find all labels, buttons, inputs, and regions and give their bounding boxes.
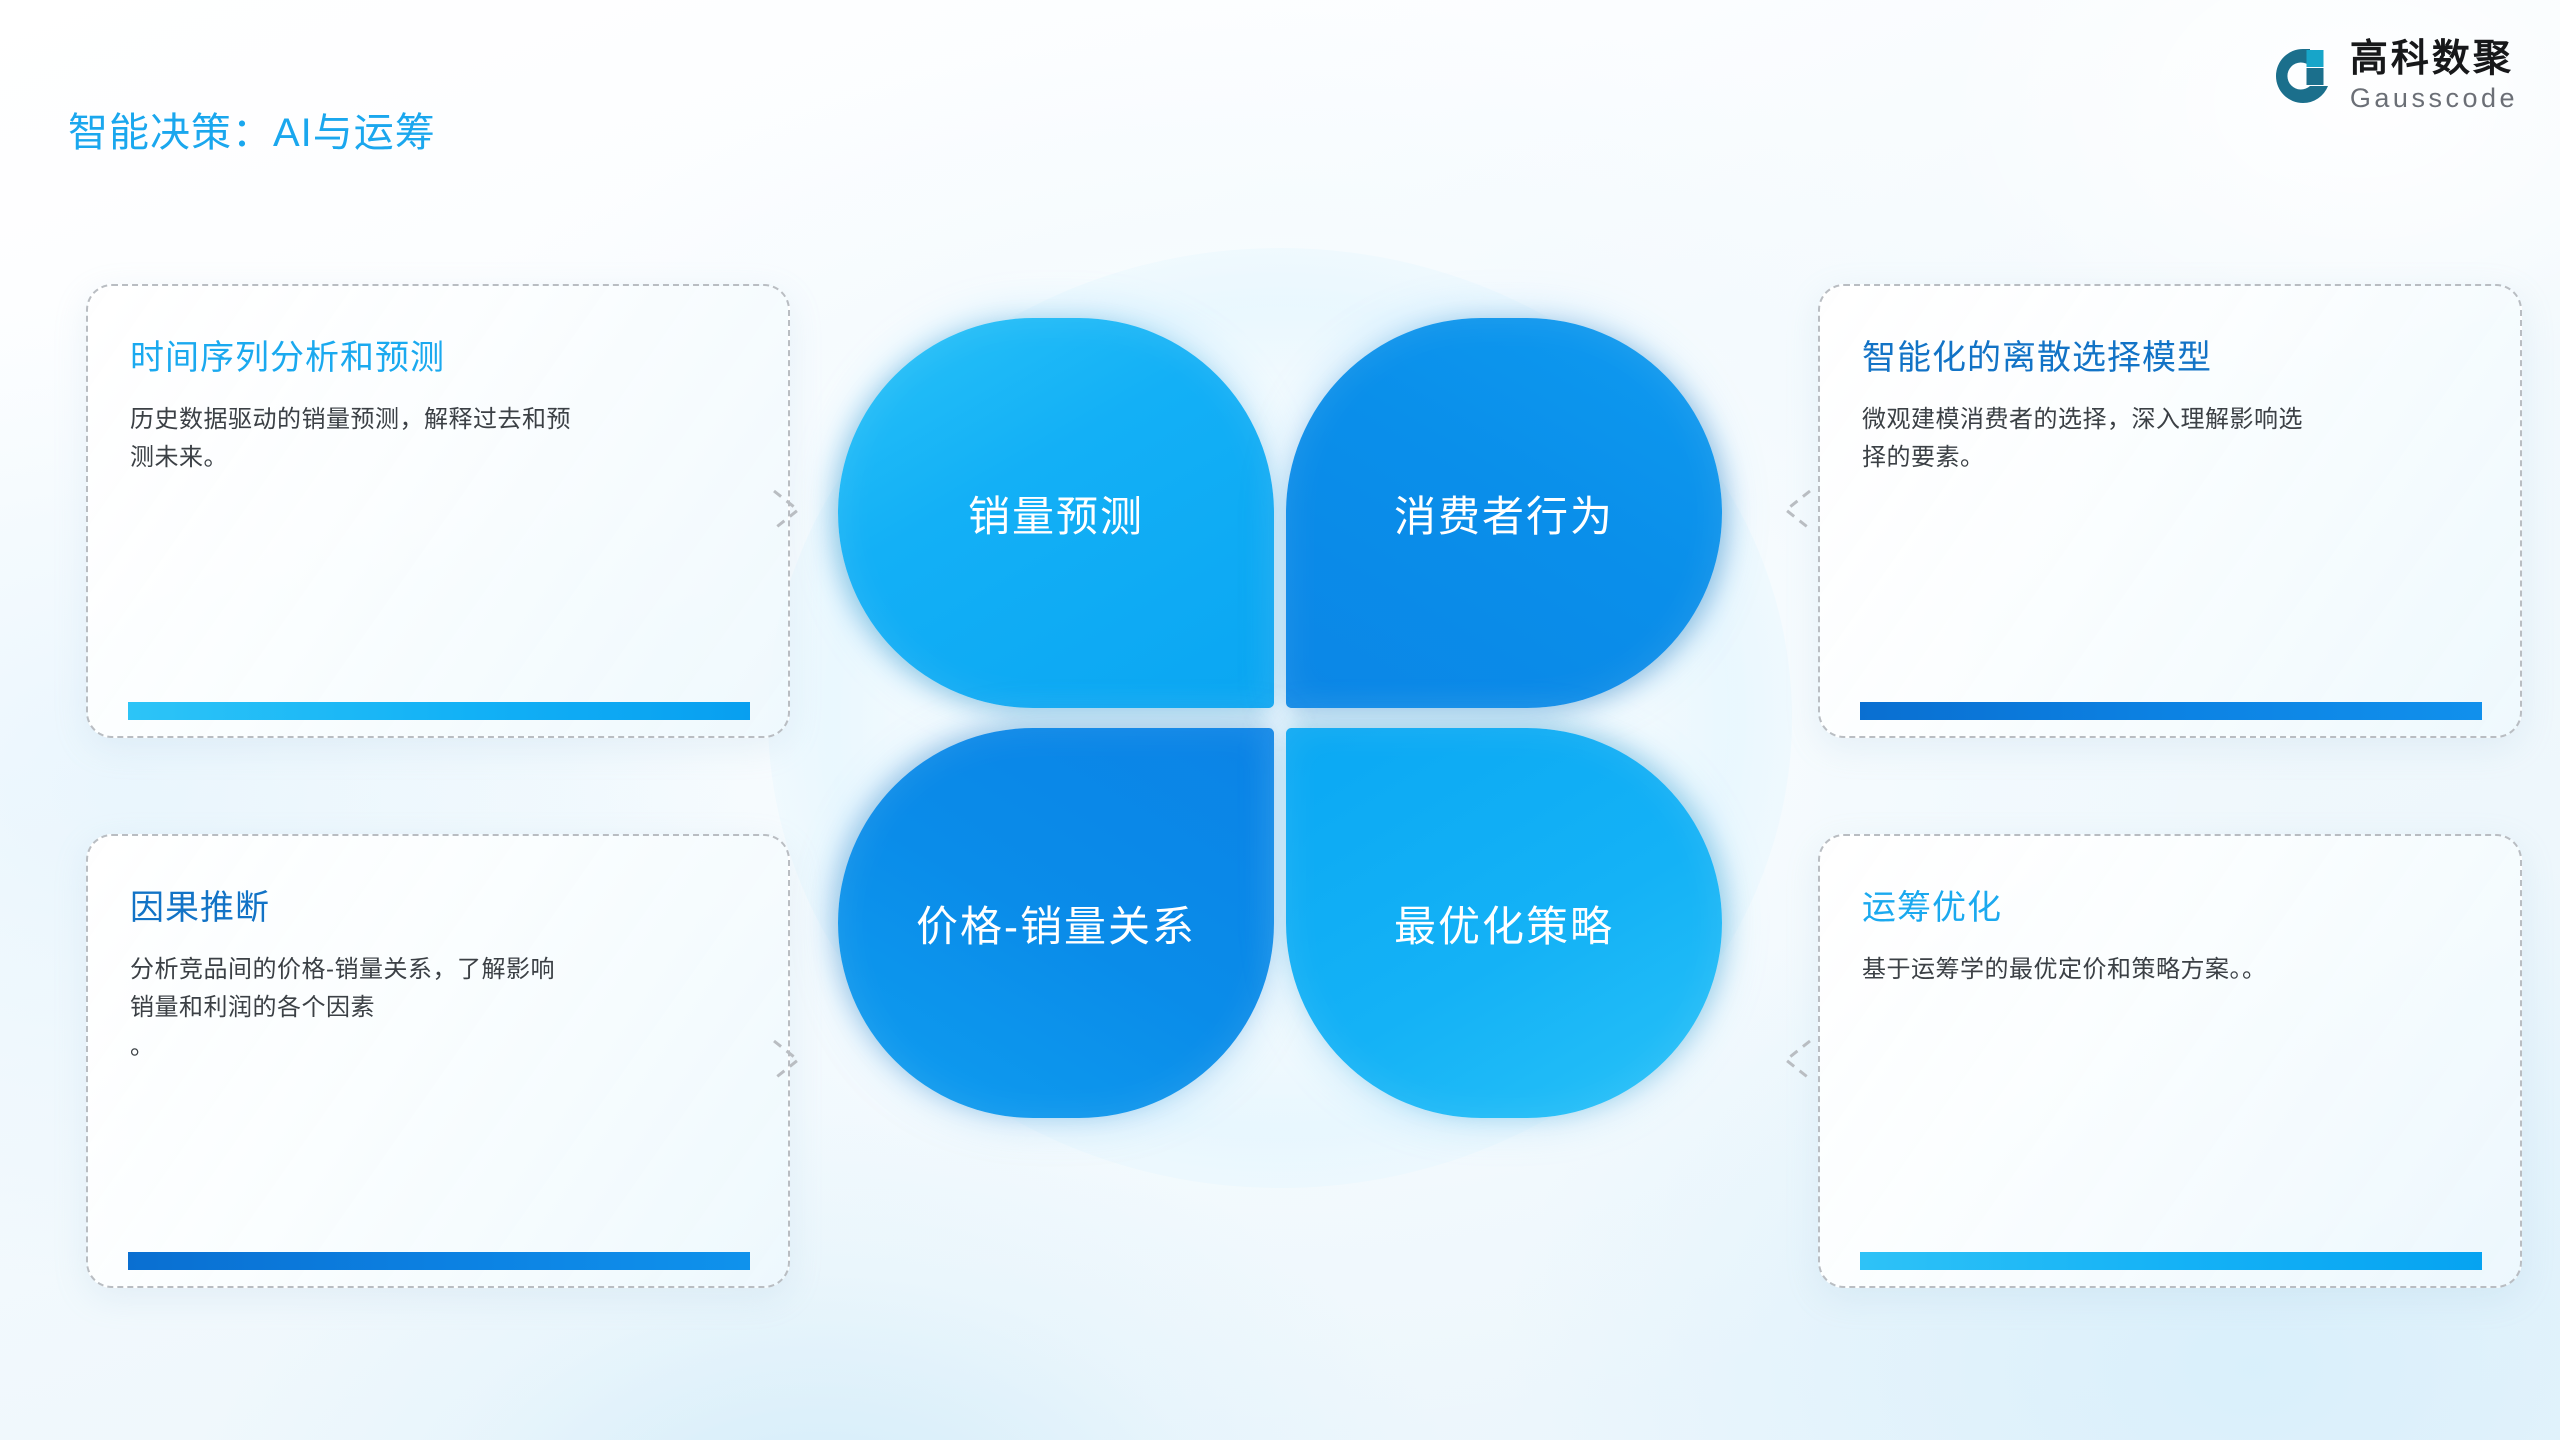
chevron-left-icon bbox=[1780, 487, 1814, 533]
brand-logo: 高科数聚 Gausscode bbox=[2272, 40, 2518, 112]
petal-label-sales-forecast: 销量预测 bbox=[968, 483, 1144, 544]
card-desc-causal-inference: 分析竞品间的价格-销量关系，了解影响 销量和利润的各个因素 。 bbox=[130, 951, 748, 1066]
logo-text-cn: 高科数聚 bbox=[2350, 40, 2518, 78]
card-title-discrete-choice: 智能化的离散选择模型 bbox=[1862, 330, 2480, 379]
logo-text-en: Gausscode bbox=[2350, 85, 2518, 112]
chevron-right-icon bbox=[770, 487, 804, 533]
page-title: 智能决策：AI与运筹 bbox=[68, 100, 436, 158]
card-title-causal-inference: 因果推断 bbox=[130, 880, 748, 929]
card-causal-inference[interactable]: 因果推断 分析竞品间的价格-销量关系，了解影响 销量和利润的各个因素 。 bbox=[86, 834, 790, 1288]
logo-wordmark: 高科数聚 Gausscode bbox=[2350, 40, 2518, 112]
card-time-series[interactable]: 时间序列分析和预测 历史数据驱动的销量预测，解释过去和预 测未来。 bbox=[86, 284, 790, 738]
gausscode-logo-mark bbox=[2272, 45, 2334, 107]
page-header: 智能决策：AI与运筹 高科数聚 Gausscode bbox=[0, 0, 2560, 165]
card-accent-bar-causal-inference bbox=[128, 1252, 750, 1270]
card-title-operations-research: 运筹优化 bbox=[1862, 880, 2480, 929]
card-accent-bar-operations-research bbox=[1860, 1252, 2482, 1270]
card-desc-discrete-choice: 微观建模消费者的选择，深入理解影响选 择的要素。 bbox=[1862, 401, 2480, 478]
card-discrete-choice[interactable]: 智能化的离散选择模型 微观建模消费者的选择，深入理解影响选 择的要素。 bbox=[1818, 284, 2522, 738]
card-body: 智能化的离散选择模型 微观建模消费者的选择，深入理解影响选 择的要素。 bbox=[1862, 330, 2480, 478]
petal-sales-forecast[interactable]: 销量预测 bbox=[838, 318, 1274, 708]
logo-mark-svg bbox=[2272, 45, 2334, 107]
card-body: 因果推断 分析竞品间的价格-销量关系，了解影响 销量和利润的各个因素 。 bbox=[130, 880, 748, 1066]
petal-label-consumer-behavior: 消费者行为 bbox=[1394, 483, 1614, 544]
card-body: 时间序列分析和预测 历史数据驱动的销量预测，解释过去和预 测未来。 bbox=[130, 330, 748, 478]
card-title-time-series: 时间序列分析和预测 bbox=[130, 330, 748, 379]
card-operations-research[interactable]: 运筹优化 基于运筹学的最优定价和策略方案。。 bbox=[1818, 834, 2522, 1288]
petal-consumer-behavior[interactable]: 消费者行为 bbox=[1286, 318, 1722, 708]
chevron-left-icon bbox=[1780, 1037, 1814, 1083]
card-desc-time-series: 历史数据驱动的销量预测，解释过去和预 测未来。 bbox=[130, 401, 748, 478]
card-accent-bar-discrete-choice bbox=[1860, 702, 2482, 720]
petal-label-price-volume: 价格-销量关系 bbox=[916, 893, 1196, 954]
petal-label-optimal-strategy: 最优化策略 bbox=[1394, 893, 1614, 954]
petal-diagram: 销量预测 消费者行为 价格-销量关系 最优化策略 bbox=[838, 318, 1722, 1118]
petal-optimal-strategy[interactable]: 最优化策略 bbox=[1286, 728, 1722, 1118]
card-body: 运筹优化 基于运筹学的最优定价和策略方案。。 bbox=[1862, 880, 2480, 989]
card-accent-bar-time-series bbox=[128, 702, 750, 720]
petal-price-volume[interactable]: 价格-销量关系 bbox=[838, 728, 1274, 1118]
chevron-right-icon bbox=[770, 1037, 804, 1083]
card-desc-operations-research: 基于运筹学的最优定价和策略方案。。 bbox=[1862, 951, 2480, 989]
